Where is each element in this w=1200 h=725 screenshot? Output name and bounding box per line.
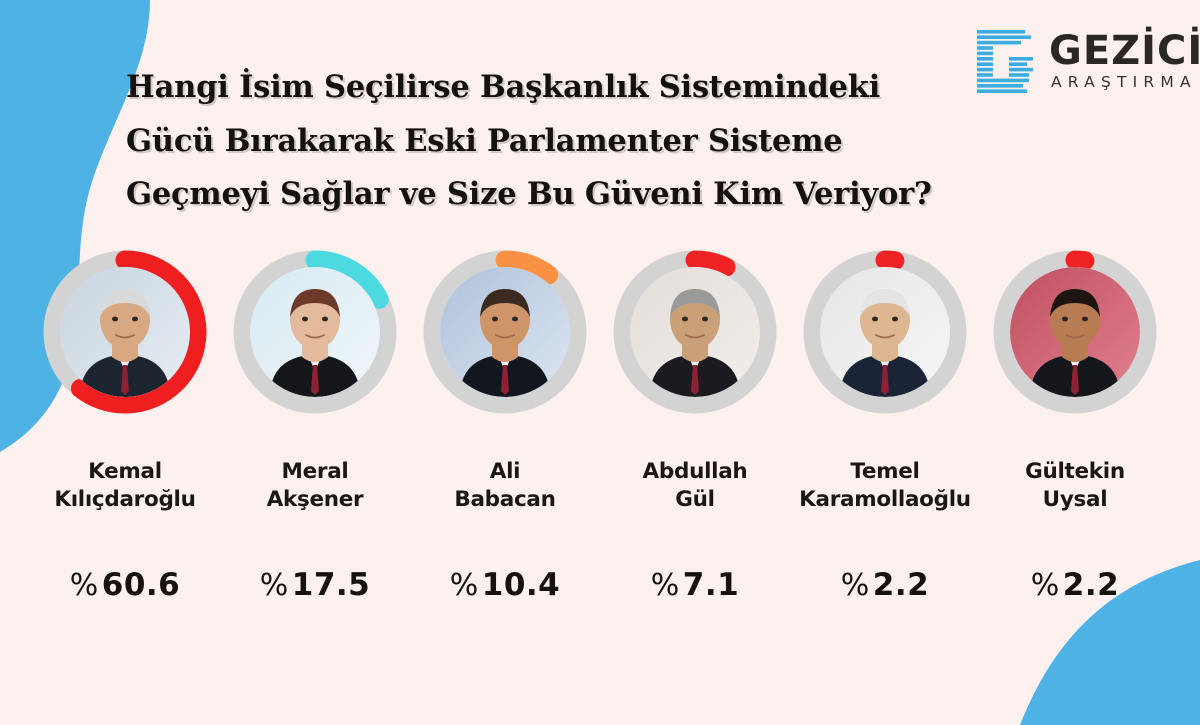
candidate-name: Gültekin Uysal (1025, 458, 1125, 515)
candidate-first-name: Ali (490, 459, 520, 484)
percent-value: 17.5 (292, 567, 371, 603)
percent-value: 60.6 (102, 567, 181, 603)
candidate-card[interactable]: Temel Karamollaoğlu %2.2 (790, 248, 980, 603)
candidate-card[interactable]: Abdullah Gül %7.1 (600, 248, 790, 603)
poster-title: Hangi İsim Seçilirse Başkanlık Sistemind… (126, 72, 1006, 233)
percent-value: 2.2 (1063, 567, 1119, 603)
candidate-percentage: %17.5 (260, 567, 371, 603)
percent-sign: % (841, 568, 870, 603)
candidate-photo-image (250, 267, 380, 397)
candidate-photo (250, 267, 380, 397)
candidate-name: Ali Babacan (454, 458, 555, 515)
percent-value: 7.1 (683, 567, 739, 603)
candidate-first-name: Abdullah (643, 459, 748, 484)
percent-sign: % (1031, 568, 1060, 603)
candidate-avatar (421, 248, 589, 416)
title-line-3: Geçmeyi Sağlar ve Size Bu Güveni Kim Ver… (126, 179, 1006, 210)
candidate-photo (820, 267, 950, 397)
candidate-first-name: Meral (282, 459, 349, 484)
candidate-photo-image (440, 267, 570, 397)
candidate-name: Meral Akşener (267, 458, 364, 515)
candidate-percentage: %2.2 (1031, 567, 1119, 603)
candidate-photo (60, 267, 190, 397)
candidate-avatar (611, 248, 779, 416)
candidate-name: Abdullah Gül (643, 458, 748, 515)
title-line-2: Gücü Bırakarak Eski Parlamenter Sisteme (126, 126, 1006, 157)
candidate-card[interactable]: Gültekin Uysal %2.2 (980, 248, 1170, 603)
candidate-photo (1010, 267, 1140, 397)
percent-sign: % (651, 568, 680, 603)
percent-sign: % (450, 568, 479, 603)
candidate-last-name: Akşener (267, 487, 364, 512)
candidate-card[interactable]: Kemal Kılıçdaroğlu %60.6 (30, 248, 220, 603)
logo-wordmark: GEZİCİ (1049, 32, 1200, 70)
candidate-avatar (801, 248, 969, 416)
percent-value: 2.2 (873, 567, 929, 603)
candidate-first-name: Gültekin (1025, 459, 1125, 484)
candidate-last-name: Uysal (1043, 487, 1108, 512)
percent-value: 10.4 (482, 567, 561, 603)
candidate-photo-image (1010, 267, 1140, 397)
candidate-photo-image (630, 267, 760, 397)
candidate-avatar (231, 248, 399, 416)
candidate-last-name: Gül (675, 487, 714, 512)
percent-sign: % (70, 568, 99, 603)
candidate-photo-image (820, 267, 950, 397)
candidate-avatar (41, 248, 209, 416)
title-line-1: Hangi İsim Seçilirse Başkanlık Sistemind… (126, 72, 1006, 103)
percent-sign: % (260, 568, 289, 603)
candidate-name: Kemal Kılıçdaroğlu (54, 458, 195, 515)
candidate-first-name: Temel (850, 459, 919, 484)
candidate-results-row: Kemal Kılıçdaroğlu %60.6 (0, 248, 1200, 603)
candidate-card[interactable]: Ali Babacan %10.4 (410, 248, 600, 603)
candidate-card[interactable]: Meral Akşener %17.5 (220, 248, 410, 603)
candidate-photo-image (60, 267, 190, 397)
logo-subtitle: ARAŞTIRMA (1051, 75, 1200, 91)
candidate-last-name: Babacan (454, 487, 555, 512)
candidate-percentage: %7.1 (651, 567, 739, 603)
candidate-last-name: Karamollaoğlu (799, 487, 971, 512)
candidate-last-name: Kılıçdaroğlu (54, 487, 195, 512)
candidate-first-name: Kemal (88, 459, 162, 484)
brand-logo: GEZİCİ ARAŞTIRMA (975, 28, 1200, 94)
infographic-poster: GEZİCİ ARAŞTIRMA Hangi İsim Seçilirse Ba… (0, 0, 1200, 725)
candidate-percentage: %60.6 (70, 567, 181, 603)
candidate-name: Temel Karamollaoğlu (799, 458, 971, 515)
candidate-avatar (991, 248, 1159, 416)
candidate-photo (630, 267, 760, 397)
candidate-photo (440, 267, 570, 397)
candidate-percentage: %2.2 (841, 567, 929, 603)
candidate-percentage: %10.4 (450, 567, 561, 603)
